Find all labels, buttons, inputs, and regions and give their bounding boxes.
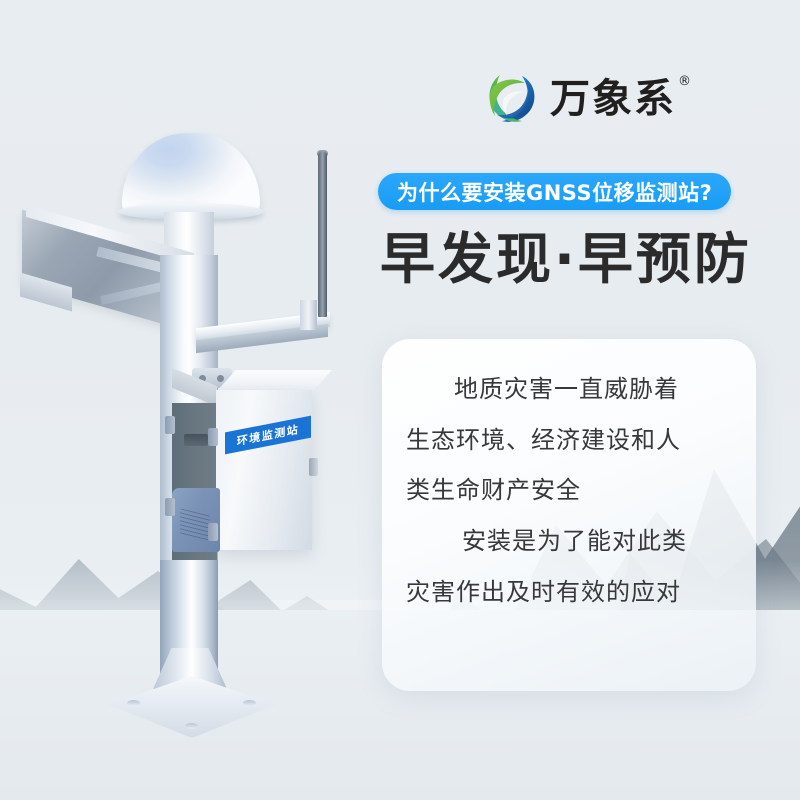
base-bolt-hole-left (127, 700, 140, 706)
gnss-monitoring-station-illustration: 环境监测站 (0, 0, 380, 800)
enclosure-hinge-1 (165, 416, 175, 434)
base-bolt-hole-right (243, 700, 256, 706)
enclosure-vent-slot (184, 434, 208, 446)
page-title: 早发现·早预防 (380, 229, 752, 290)
description-card: 地质灾害一直威胁着 生态环境、经济建设和人 类生命财产安全 安装是为了能对此类 … (382, 339, 756, 691)
base-bolt-hole-front (185, 723, 198, 729)
cross-arm-bracket (300, 300, 317, 330)
brand-lockup: 万象系 ® (484, 68, 691, 130)
gnss-antenna-dome-icon (122, 133, 260, 213)
brand-name: 万象系 (550, 79, 676, 119)
enclosure-front-face (216, 390, 312, 550)
enclosure-top-face (216, 370, 332, 392)
enclosure-hinge-2 (165, 498, 175, 516)
description-line-1: 地质灾害一直威胁着 (406, 373, 732, 406)
whip-antenna-icon (318, 152, 327, 317)
enclosure-hinge-4 (208, 523, 218, 541)
swirl-globe-icon (484, 71, 540, 127)
description-line-4: 安装是为了能对此类 (406, 525, 732, 558)
description-line-3: 类生命财产安全 (406, 474, 732, 507)
description-line-2: 生态环境、经济建设和人 (406, 424, 732, 457)
description-line-5: 灾害作出及时有效的应对 (406, 576, 732, 609)
question-badge-label: 为什么要安装GNSS位移监测站? (397, 177, 712, 207)
registered-trademark-icon: ® (678, 74, 691, 89)
poster-canvas: 环境监测站 (0, 0, 800, 800)
enclosure-hinge-3 (208, 428, 218, 446)
question-badge[interactable]: 为什么要安装GNSS位移监测站? (378, 173, 731, 210)
enclosure-latch (309, 458, 318, 476)
bracket-hole-right (217, 375, 224, 382)
